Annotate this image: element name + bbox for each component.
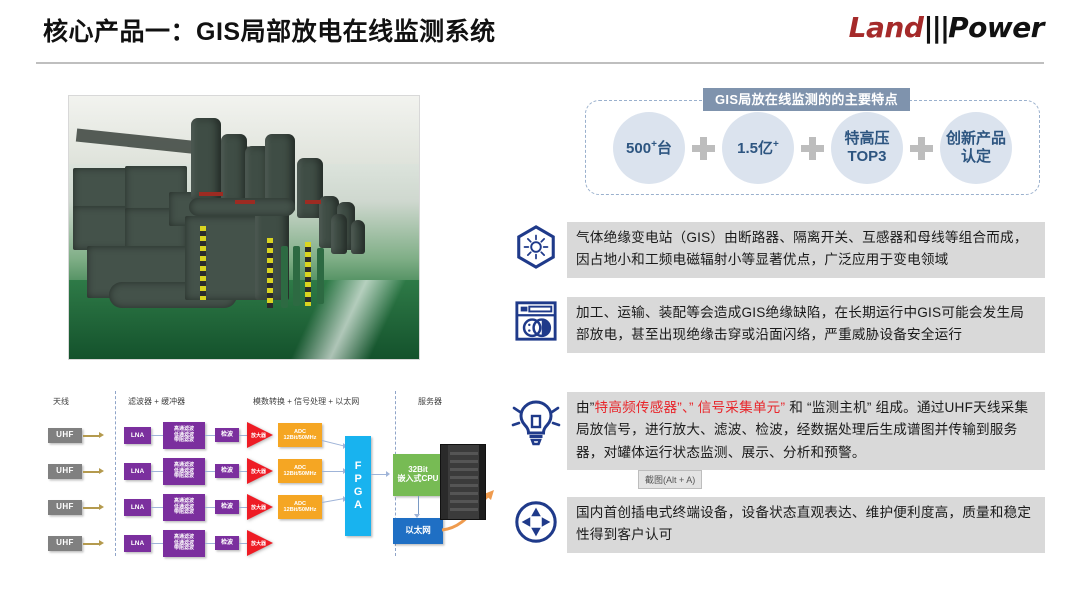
signal-wire: [239, 507, 247, 508]
photo-ladder: [200, 226, 206, 300]
title-divider: [36, 62, 1044, 64]
detector-block: 检波: [215, 464, 239, 478]
lightbulb-icon: [505, 392, 567, 446]
info-text-system-composition: 由”特高频传感器”、” 信号采集单元” 和 “监测主机” 组成。通过UHF天线采…: [567, 392, 1045, 470]
signal-wire: [239, 435, 247, 436]
photo-post: [281, 246, 288, 308]
lna-block: LNA: [124, 499, 151, 516]
arrow-icon: [386, 471, 390, 477]
photo-tank: [351, 220, 365, 254]
server-slot: [450, 452, 478, 455]
signal-wire: [239, 543, 247, 544]
adc-spec: 12Bit/50MHz: [284, 471, 317, 477]
info-text-gis-definition: 气体绝缘变电站（GIS）由断路器、隔离开关、互感器和母线等组合而成，因占地小和工…: [567, 222, 1045, 278]
uhf-antenna-block: UHF: [48, 536, 82, 551]
info-row-insulation-defect: 加工、运输、装配等会造成GIS绝缘缺陷，在长期运行中GIS可能会发生局部放电，甚…: [505, 297, 1045, 353]
lna-block: LNA: [124, 535, 151, 552]
signal-wire: [151, 543, 163, 544]
amplifier-label: 放大器: [251, 540, 266, 547]
feature-value: 创新产品: [946, 130, 1006, 148]
cpu-type: 嵌入式CPU: [398, 475, 439, 484]
arrow-icon: [99, 540, 104, 546]
uhf-antenna-block: UHF: [48, 464, 82, 479]
adc-spec: 12Bit/50MHz: [284, 435, 317, 441]
filter-line: 带阻滤波: [174, 474, 194, 480]
slide-root: 核心产品一：GIS局部放电在线监测系统 Land|||Power: [0, 0, 1080, 596]
feature-value: 1.5亿: [737, 140, 773, 157]
signal-wire: [151, 471, 163, 472]
ethernet-block: 以太网: [393, 518, 443, 544]
photo-ladder: [267, 238, 273, 308]
photo-tank: [331, 214, 347, 254]
brand-divider-bars: |||: [923, 11, 948, 44]
photo-marker: [235, 200, 255, 204]
gis-substation-photo: [68, 95, 420, 360]
signal-wire: [151, 435, 163, 436]
server-rack: [440, 444, 486, 520]
filter-block: 高通滤波 低通滤波 带阻滤波: [163, 494, 205, 521]
info-row-product-advantage: 国内首创插电式终端设备，设备状态直观表达、维护便利度高，质量和稳定性得到客户认可: [505, 497, 1045, 553]
feature-value: 500: [626, 140, 651, 157]
filter-block: 高通滤波 低通滤波 带阻滤波: [163, 458, 205, 485]
adc-block: ADC 12Bit/50MHz: [278, 459, 322, 483]
photo-tank: [191, 118, 221, 200]
server-slot: [450, 460, 478, 463]
signal-wire: [83, 507, 99, 509]
amplifier-label: 放大器: [251, 468, 266, 475]
feature-superscript: +: [773, 139, 779, 150]
feature-circle-item: 500+台: [613, 112, 685, 184]
feature-value-line2: TOP3: [848, 148, 887, 166]
filter-line: 带阻滤波: [174, 546, 194, 552]
server-slot: [450, 508, 478, 511]
uhf-antenna-block: UHF: [48, 428, 82, 443]
signal-wire: [239, 471, 247, 472]
signal-wire: [83, 435, 99, 437]
signal-wire: [151, 507, 163, 508]
signal-wire: [371, 474, 387, 475]
signal-wire: [322, 440, 344, 446]
plus-separator-icon: [801, 137, 824, 160]
server-slot: [450, 476, 478, 479]
feature-value-line2: 认定: [961, 148, 991, 166]
lna-block: LNA: [124, 463, 151, 480]
feature-circle-item: 创新产品 认定: [940, 112, 1012, 184]
server-slot: [450, 500, 478, 503]
fpga-label: FPGA: [352, 460, 364, 512]
photo-ladder: [305, 242, 311, 306]
photo-marker: [305, 200, 321, 204]
fpga-block: FPGA: [345, 436, 371, 536]
feature-unit: 台: [657, 140, 672, 157]
info-text-product-advantage: 国内首创插电式终端设备，设备状态直观表达、维护便利度高，质量和稳定性得到客户认可: [567, 497, 1045, 553]
feature-circle-item: 1.5亿+: [722, 112, 794, 184]
photo-marker: [199, 192, 223, 196]
feature-value: 特高压: [844, 130, 889, 148]
detector-block: 检波: [215, 428, 239, 442]
plus-separator-icon: [910, 137, 933, 160]
brand-logo: Land|||Power: [849, 11, 1044, 44]
filter-block: 高通滤波 低通滤波 带阻滤波: [163, 530, 205, 557]
signal-wire: [83, 471, 99, 473]
lna-block: LNA: [124, 427, 151, 444]
brand-power-text: Power: [948, 11, 1044, 44]
embedded-cpu-block: 32Bit 嵌入式CPU: [393, 454, 443, 496]
signal-wire: [205, 543, 215, 544]
server-slot: [450, 484, 478, 487]
arrow-icon: [99, 432, 104, 438]
arrow-icon: [99, 468, 104, 474]
info-row-gis-definition: 气体绝缘变电站（GIS）由断路器、隔离开关、互感器和母线等组合而成，因占地小和工…: [505, 222, 1045, 278]
info-text-insulation-defect: 加工、运输、装配等会造成GIS绝缘缺陷，在长期运行中GIS可能会发生局部放电，甚…: [567, 297, 1045, 353]
detector-block: 检波: [215, 500, 239, 514]
signal-wire: [418, 496, 419, 514]
signal-wire: [205, 435, 215, 436]
hexagon-sun-icon: [505, 222, 567, 270]
uhf-antenna-block: UHF: [48, 500, 82, 515]
move-arrows-icon: [505, 497, 567, 545]
page-title: 核心产品一：GIS局部放电在线监测系统: [43, 12, 496, 48]
filter-line: 带阻滤波: [174, 510, 194, 516]
signal-wire: [322, 471, 344, 472]
adc-block: ADC 12Bit/50MHz: [278, 495, 322, 519]
detector-block: 检波: [215, 536, 239, 550]
arrow-icon: [99, 504, 104, 510]
text-segment-highlight: 特高频传感器”、” 信号采集单元”: [595, 400, 786, 415]
monitor-window-icon: [505, 297, 567, 343]
diagram-section-divider: [115, 391, 116, 556]
server-slot: [450, 468, 478, 471]
text-segment: 由”: [576, 400, 595, 415]
signal-chain-diagram: 天线 滤波器 + 缓冲器 模数转换 + 信号处理 + 以太网 服务器 UHF L…: [40, 386, 490, 566]
feature-circle-list: 500+台 1.5亿+ 特高压 TOP3 创新产品 认定: [585, 108, 1040, 188]
brand-land-text: Land: [849, 11, 924, 44]
signal-wire: [322, 498, 344, 503]
diagram-stage-label-server: 服务器: [418, 396, 442, 407]
filter-line: 带阻滤波: [174, 438, 194, 444]
filter-block: 高通滤波 低通滤波 带阻滤波: [163, 422, 205, 449]
photo-post: [293, 246, 300, 306]
server-slot: [450, 492, 478, 495]
info-row-system-composition: 由”特高频传感器”、” 信号采集单元” 和 “监测主机” 组成。通过UHF天线采…: [505, 392, 1045, 470]
diagram-stage-label-antenna: 天线: [53, 396, 69, 407]
screenshot-shortcut-tooltip: 截图(Alt + A): [638, 470, 702, 489]
amplifier-label: 放大器: [251, 504, 266, 511]
photo-post: [317, 248, 324, 304]
plus-separator-icon: [692, 137, 715, 160]
signal-wire: [83, 543, 99, 545]
photo-tank: [221, 134, 247, 204]
adc-spec: 12Bit/50MHz: [284, 507, 317, 513]
diagram-stage-label-filter: 滤波器 + 缓冲器: [128, 396, 185, 407]
diagram-stage-label-adc: 模数转换 + 信号处理 + 以太网: [253, 396, 359, 407]
feature-circle-item: 特高压 TOP3: [831, 112, 903, 184]
amplifier-label: 放大器: [251, 432, 266, 439]
signal-wire: [205, 507, 215, 508]
adc-block: ADC 12Bit/50MHz: [278, 423, 322, 447]
signal-wire: [205, 471, 215, 472]
